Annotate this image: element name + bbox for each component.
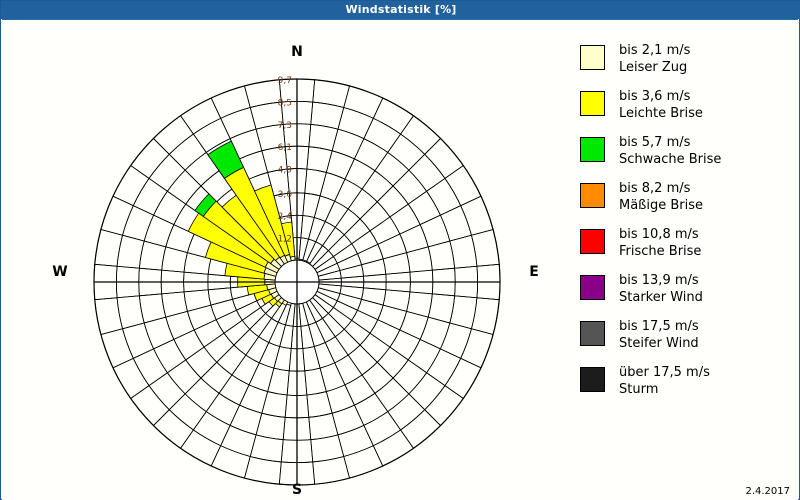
legend-speed-label: bis 10,8 m/s — [619, 226, 701, 243]
legend-item: über 17,5 m/sSturm — [580, 364, 795, 404]
legend-name-label: Schwache Brise — [619, 151, 721, 168]
legend-text: bis 17,5 m/sSteifer Wind — [619, 318, 699, 352]
legend-text: bis 3,6 m/sLeichte Brise — [619, 88, 703, 122]
compass-label-south: S — [277, 482, 317, 498]
legend-swatch — [580, 275, 605, 300]
legend-speed-label: bis 2,1 m/s — [619, 42, 690, 59]
radial-tick-label: 9,7 — [278, 76, 292, 86]
legend-item: bis 8,2 m/sMäßige Brise — [580, 180, 795, 220]
legend-name-label: Mäßige Brise — [619, 197, 703, 214]
legend-name-label: Leichte Brise — [619, 105, 703, 122]
legend-swatch — [580, 367, 605, 392]
legend-name-label: Sturm — [619, 381, 710, 398]
legend-swatch — [580, 45, 605, 70]
wind-sector-segment — [299, 259, 303, 261]
date-stamp: 2.4.2017 — [745, 486, 790, 497]
compass-label-east: E — [514, 264, 554, 280]
window-titlebar: Windstatistik [%] — [1, 1, 800, 19]
legend-text: bis 2,1 m/sLeiser Zug — [619, 42, 690, 76]
legend-swatch — [580, 137, 605, 162]
legend-speed-label: über 17,5 m/s — [619, 364, 710, 381]
legend-text: bis 13,9 m/sStarker Wind — [619, 272, 703, 306]
radial-tick-label: 6,1 — [278, 143, 292, 153]
legend-swatch — [580, 183, 605, 208]
legend-swatch — [580, 91, 605, 116]
legend-speed-label: bis 17,5 m/s — [619, 318, 699, 335]
legend-swatch — [580, 321, 605, 346]
legend-text: bis 8,2 m/sMäßige Brise — [619, 180, 703, 214]
legend-speed-label: bis 13,9 m/s — [619, 272, 703, 289]
radial-tick-label: 8,5 — [278, 98, 292, 108]
legend-item: bis 13,9 m/sStarker Wind — [580, 272, 795, 312]
radial-tick-label: 4,9 — [278, 166, 293, 176]
legend-speed-label: bis 3,6 m/s — [619, 88, 703, 105]
legend-item: bis 3,6 m/sLeichte Brise — [580, 88, 795, 128]
compass-label-west: W — [40, 264, 80, 280]
legend: bis 2,1 m/sLeiser Zugbis 3,6 m/sLeichte … — [580, 42, 795, 410]
windrose-svg: 1,22,43,64,96,17,38,59,7 — [2, 20, 562, 500]
window-title: Windstatistik [%] — [345, 3, 456, 16]
windrose-chart: 1,22,43,64,96,17,38,59,7 N S W E — [2, 20, 562, 500]
legend-item: bis 17,5 m/sSteifer Wind — [580, 318, 795, 358]
legend-name-label: Leiser Zug — [619, 59, 690, 76]
radial-tick-label: 1,2 — [278, 235, 292, 245]
radial-tick-label: 3,6 — [278, 190, 293, 200]
wind-statistics-window: Windstatistik [%] 1,22,43,64,96,17,38,59… — [0, 0, 800, 500]
legend-swatch — [580, 229, 605, 254]
legend-text: bis 10,8 m/sFrische Brise — [619, 226, 701, 260]
radial-tick-label: 2,4 — [278, 212, 293, 222]
legend-speed-label: bis 5,7 m/s — [619, 134, 721, 151]
legend-name-label: Starker Wind — [619, 289, 703, 306]
legend-name-label: Frische Brise — [619, 243, 701, 260]
compass-label-north: N — [277, 44, 317, 60]
window-content: 1,22,43,64,96,17,38,59,7 N S W E bis 2,1… — [2, 19, 798, 500]
legend-item: bis 2,1 m/sLeiser Zug — [580, 42, 795, 82]
legend-speed-label: bis 8,2 m/s — [619, 180, 703, 197]
legend-text: über 17,5 m/sSturm — [619, 364, 710, 398]
legend-item: bis 5,7 m/sSchwache Brise — [580, 134, 795, 174]
legend-item: bis 10,8 m/sFrische Brise — [580, 226, 795, 266]
legend-name-label: Steifer Wind — [619, 335, 699, 352]
radial-tick-label: 7,3 — [278, 121, 292, 131]
radial-tick-labels: 1,22,43,64,96,17,38,59,7 — [278, 76, 293, 245]
legend-text: bis 5,7 m/sSchwache Brise — [619, 134, 721, 168]
